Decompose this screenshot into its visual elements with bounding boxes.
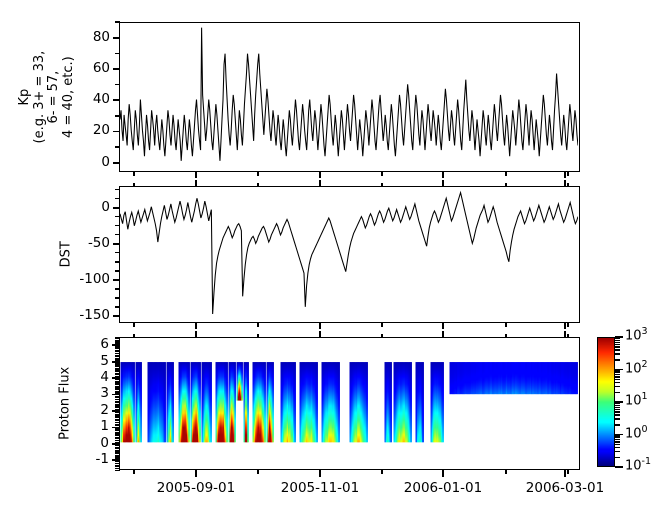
tick-mark [442, 470, 444, 477]
y-tick-label: 40 [50, 91, 110, 107]
heatmap-column [210, 362, 212, 442]
tick-mark [195, 172, 197, 178]
tick-mark [615, 382, 620, 383]
tick-mark [115, 448, 120, 449]
data-line [120, 28, 578, 161]
y-tick-label: 2 [49, 402, 109, 418]
tick-mark [442, 331, 444, 337]
tick-mark [112, 394, 120, 396]
heatmap-column [241, 362, 243, 401]
tick-mark [567, 183, 569, 187]
tick-mark [505, 172, 507, 176]
tick-mark [115, 351, 120, 352]
tick-mark [112, 361, 120, 363]
tick-mark [115, 422, 120, 423]
tick-mark [113, 99, 120, 101]
tick-mark [115, 461, 120, 462]
heatmap-column [366, 362, 368, 442]
tick-mark [567, 470, 569, 474]
tick-mark [115, 405, 120, 406]
colorbar-tick-label: 102 [625, 359, 648, 376]
tick-mark [115, 397, 120, 398]
tick-mark [115, 428, 120, 429]
tick-mark [319, 323, 321, 329]
tick-mark [115, 368, 120, 369]
tick-mark [133, 172, 135, 176]
heatmap-column [422, 362, 424, 442]
tick-mark [133, 183, 135, 187]
colorbar-tick-label: 103 [625, 326, 648, 343]
tick-mark [615, 370, 620, 371]
tick-mark [115, 115, 120, 116]
tick-mark [115, 371, 120, 372]
tick-mark [319, 331, 321, 337]
tick-mark [615, 447, 620, 448]
tick-mark [115, 337, 120, 338]
tick-mark [115, 198, 120, 199]
tick-mark [112, 410, 120, 412]
tick-mark [133, 470, 135, 474]
tick-mark [615, 353, 620, 354]
tick-mark [115, 386, 120, 387]
heatmap-column [442, 362, 444, 442]
tick-mark [615, 374, 620, 375]
tick-mark [115, 350, 120, 351]
proton-flux-heatmap [120, 338, 578, 468]
tick-mark [115, 470, 120, 471]
tick-mark [113, 68, 120, 70]
tick-mark [615, 457, 620, 458]
tick-mark [115, 234, 120, 235]
tick-mark [567, 172, 569, 176]
colorbar-tick-label: 101 [625, 391, 648, 408]
tick-mark [195, 331, 197, 337]
tick-mark [115, 379, 120, 380]
tick-mark [615, 386, 620, 387]
tick-mark [115, 401, 120, 402]
tick-mark [115, 463, 120, 464]
tick-mark [115, 288, 120, 289]
tick-mark [615, 392, 620, 393]
heatmap-column [576, 362, 578, 394]
heatmap-column [316, 362, 318, 442]
colorbar-gradient [598, 338, 614, 466]
tick-mark [115, 53, 120, 54]
tick-mark [115, 387, 120, 388]
colorbar [597, 337, 615, 467]
y-tick-label: 20 [50, 122, 110, 138]
y-tick-label: 1 [49, 418, 109, 434]
tick-mark [115, 435, 120, 436]
heatmap-column [172, 362, 174, 442]
tick-mark [319, 180, 321, 186]
tick-mark [505, 183, 507, 187]
tick-mark [615, 409, 620, 410]
tick-mark [113, 243, 120, 245]
tick-mark [115, 417, 120, 418]
tick-mark [115, 374, 120, 375]
tick-mark [115, 381, 120, 382]
tick-mark [567, 323, 569, 327]
heatmap-column [294, 362, 296, 442]
heatmap-column [390, 362, 392, 442]
tick-mark [615, 451, 620, 452]
tick-mark [564, 323, 566, 329]
heatmap-column [226, 362, 228, 442]
tick-mark [115, 84, 120, 85]
tick-mark [615, 411, 620, 412]
tick-mark [115, 364, 120, 365]
tick-mark [615, 435, 620, 436]
tick-mark [115, 402, 120, 403]
tick-mark [115, 396, 120, 397]
tick-mark [381, 172, 383, 176]
tick-mark [115, 366, 120, 367]
tick-mark [115, 341, 120, 342]
panel-kp [119, 22, 580, 172]
tick-mark [115, 297, 120, 298]
y-tick-label: 3 [49, 385, 109, 401]
tick-mark [115, 419, 120, 420]
panel-proton-flux [119, 337, 580, 470]
tick-mark [115, 445, 120, 446]
colorbar-stripe [598, 465, 614, 466]
tick-mark [115, 384, 120, 385]
tick-mark [381, 323, 383, 327]
tick-mark [115, 355, 120, 356]
tick-mark [615, 414, 620, 415]
tick-mark [564, 180, 566, 186]
tick-mark [442, 323, 444, 329]
y-tick-label: 60 [50, 60, 110, 76]
tick-mark [381, 334, 383, 338]
y-tick-label: -1 [49, 451, 109, 467]
tick-mark [381, 183, 383, 187]
tick-mark [133, 334, 135, 338]
tick-mark [113, 37, 120, 39]
y-tick-label: -50 [50, 235, 110, 251]
tick-mark [115, 391, 120, 392]
tick-mark [615, 342, 620, 343]
heatmap-column [164, 362, 166, 442]
tick-mark [115, 414, 120, 415]
tick-mark [615, 407, 620, 408]
tick-mark [505, 470, 507, 474]
heatmap-column [272, 362, 274, 442]
tick-mark [115, 189, 120, 190]
tick-mark [615, 444, 620, 445]
data-line [120, 193, 578, 314]
tick-mark [113, 131, 120, 133]
tick-mark [115, 338, 120, 339]
tick-mark [615, 439, 620, 440]
tick-mark [115, 353, 120, 354]
tick-mark [115, 438, 120, 439]
y-tick-label: 5 [49, 353, 109, 369]
y-tick-label: -150 [50, 307, 110, 323]
tick-mark [115, 358, 120, 359]
tick-mark [615, 344, 620, 345]
tick-mark [115, 450, 120, 451]
heatmap-column [410, 362, 412, 442]
tick-mark [133, 323, 135, 327]
tick-mark [115, 437, 120, 438]
tick-mark [112, 344, 120, 346]
tick-mark [115, 373, 120, 374]
heatmap-column [188, 362, 190, 442]
tick-mark [115, 407, 120, 408]
tick-mark [115, 468, 120, 469]
tick-mark [505, 334, 507, 338]
tick-mark [615, 346, 620, 347]
heatmap-column [234, 362, 236, 442]
y-tick-label: 0 [49, 435, 109, 451]
tick-mark [115, 430, 120, 431]
tick-mark [442, 172, 444, 178]
tick-mark [115, 399, 120, 400]
tick-mark [115, 346, 120, 347]
tick-mark [381, 470, 383, 474]
tick-mark [112, 443, 120, 445]
tick-mark [615, 424, 620, 425]
tick-mark [615, 405, 620, 406]
tick-mark [615, 379, 620, 380]
y-tick-label: 6 [49, 336, 109, 352]
tick-mark [115, 404, 120, 405]
tick-mark [257, 470, 259, 474]
panel-dst [119, 186, 580, 323]
heatmap-column [264, 362, 266, 442]
tick-mark [195, 323, 197, 329]
y-tick-label: 4 [49, 369, 109, 385]
tick-mark [615, 441, 620, 442]
tick-mark [319, 470, 321, 477]
tick-mark [505, 323, 507, 327]
tick-mark [115, 389, 120, 390]
y-tick-label: 0 [50, 199, 110, 215]
tick-mark [615, 340, 620, 341]
tick-mark [115, 412, 120, 413]
tick-mark [567, 334, 569, 338]
y-tick-label: 0 [50, 154, 110, 170]
tick-mark [112, 459, 120, 461]
tick-mark [113, 279, 120, 281]
tick-mark [115, 356, 120, 357]
dst-series-plot [120, 187, 578, 321]
tick-mark [115, 306, 120, 307]
colorbar-tick-label: 100 [625, 424, 648, 441]
tick-mark [115, 252, 120, 253]
tick-mark [442, 180, 444, 186]
x-tick-label: 2005-09-01 [138, 480, 254, 496]
tick-mark [115, 440, 120, 441]
tick-mark [564, 331, 566, 337]
tick-mark [115, 433, 120, 434]
tick-mark [115, 420, 120, 421]
tick-mark [115, 382, 120, 383]
tick-mark [257, 183, 259, 187]
y-tick-label: -100 [50, 271, 110, 287]
tick-mark [115, 465, 120, 466]
tick-mark [195, 470, 197, 477]
tick-mark [257, 323, 259, 327]
tick-mark [115, 447, 120, 448]
figure-canvas: Kp (e.g. 3+ = 33, 6- = 57, 4 = 40, etc.)… [0, 0, 665, 523]
tick-mark [615, 403, 620, 404]
tick-mark [115, 340, 120, 341]
tick-mark [115, 21, 120, 22]
tick-mark [115, 455, 120, 456]
tick-mark [195, 180, 197, 186]
tick-mark [115, 466, 120, 467]
tick-mark [113, 207, 120, 209]
tick-mark [112, 427, 120, 429]
heatmap-column [140, 362, 142, 442]
tick-mark [615, 349, 620, 350]
tick-mark [115, 261, 120, 262]
tick-mark [615, 437, 620, 438]
tick-mark [615, 418, 620, 419]
tick-mark [564, 470, 566, 477]
heatmap-column [133, 362, 135, 442]
tick-mark [115, 216, 120, 217]
tick-mark [615, 376, 620, 377]
tick-mark [615, 372, 620, 373]
x-tick-label: 2006-01-01 [385, 480, 501, 496]
tick-mark [564, 172, 566, 178]
tick-mark [319, 172, 321, 178]
tick-mark [112, 377, 120, 379]
heatmap-column [338, 362, 340, 442]
tick-mark [115, 451, 120, 452]
tick-mark [115, 456, 120, 457]
tick-mark [115, 270, 120, 271]
tick-mark [115, 415, 120, 416]
tick-mark [115, 453, 120, 454]
heatmap-column [199, 362, 201, 442]
tick-mark [115, 363, 120, 364]
tick-mark [113, 162, 120, 164]
tick-mark [257, 334, 259, 338]
tick-mark [615, 359, 620, 360]
heatmap-column [247, 362, 249, 442]
tick-mark [115, 424, 120, 425]
tick-mark [115, 146, 120, 147]
tick-mark [615, 338, 620, 339]
y-tick-label: 80 [50, 29, 110, 45]
x-tick-label: 2006-03-01 [507, 480, 623, 496]
kp-series-plot [120, 23, 578, 170]
tick-mark [615, 466, 623, 468]
tick-mark [115, 225, 120, 226]
colorbar-tick-label: 10-1 [625, 456, 651, 473]
tick-mark [115, 432, 120, 433]
tick-mark [115, 369, 120, 370]
tick-mark [113, 315, 120, 317]
tick-mark [257, 172, 259, 176]
x-tick-label: 2005-11-01 [262, 480, 378, 496]
tick-mark [115, 348, 120, 349]
